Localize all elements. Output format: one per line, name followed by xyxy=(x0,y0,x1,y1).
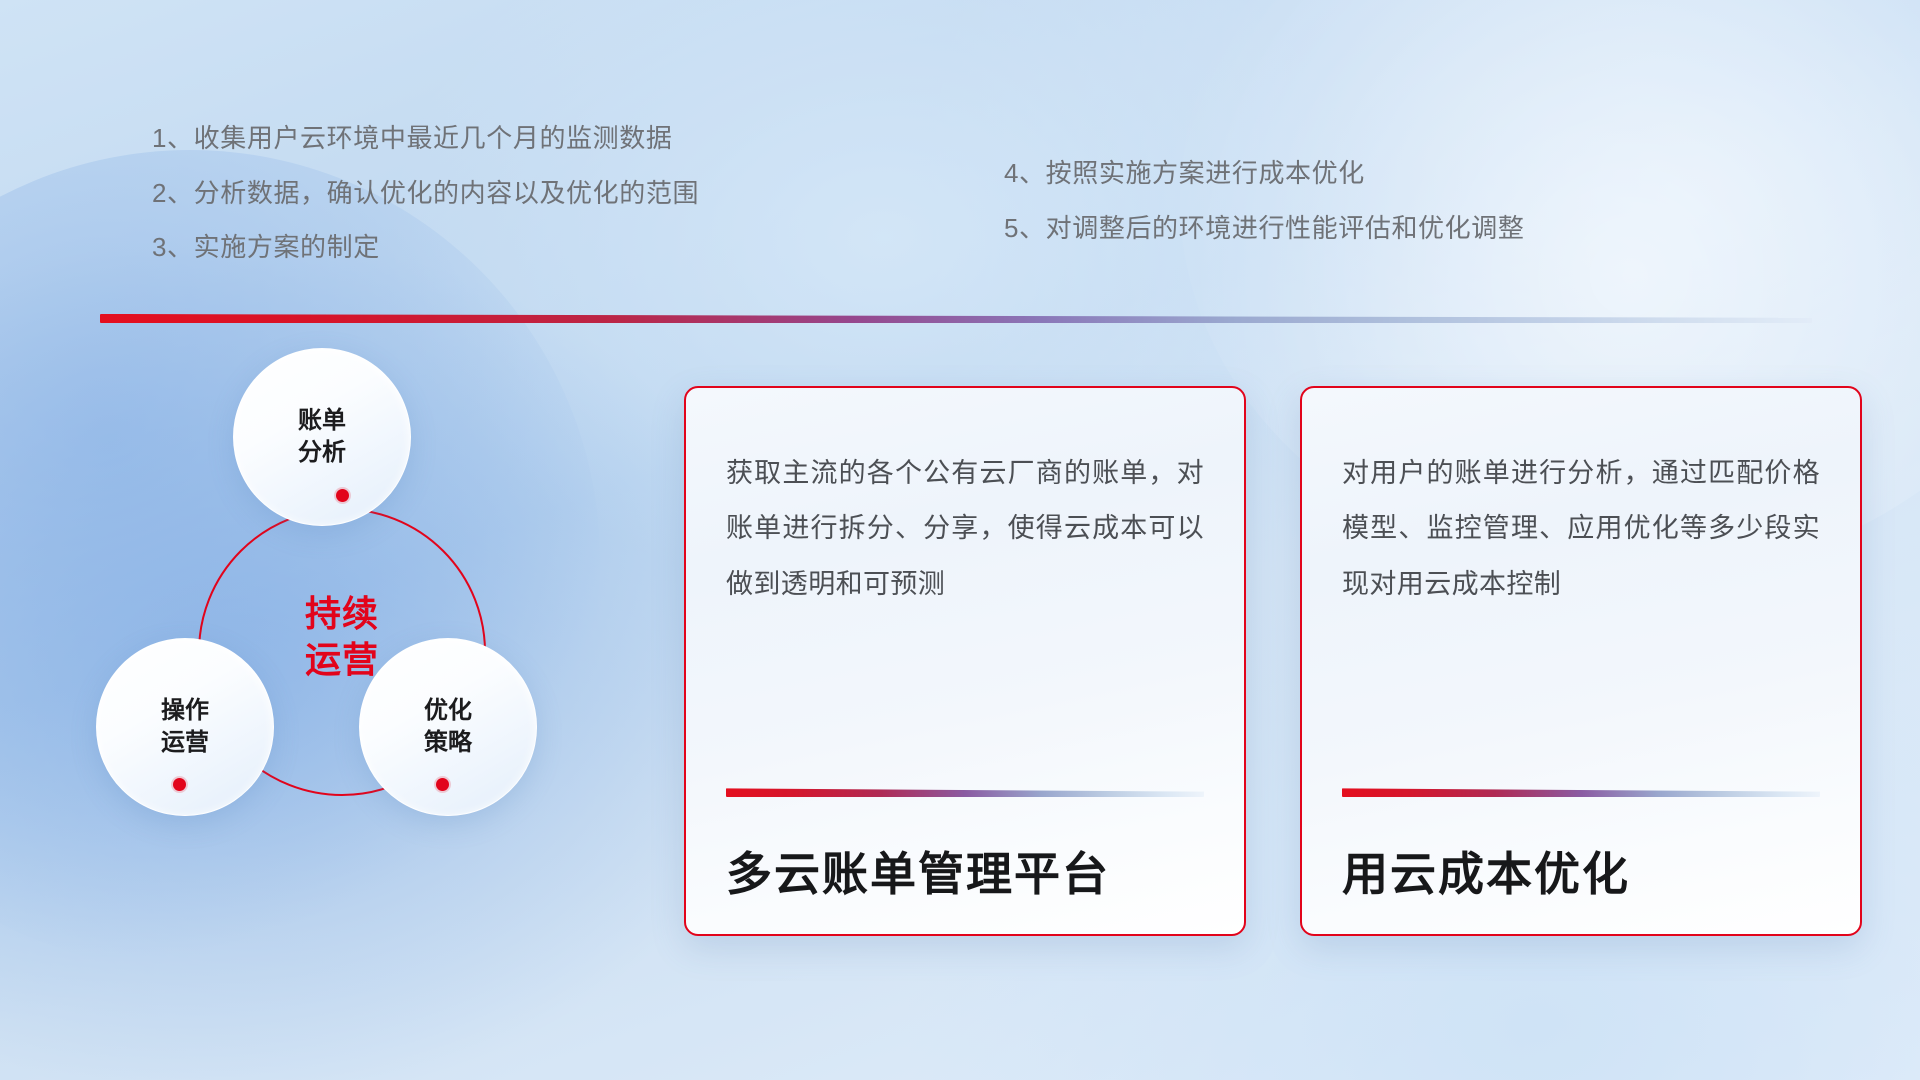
center-label-line2: 运营 xyxy=(198,637,486,683)
connector-dot-right xyxy=(436,778,449,791)
node-label-line1: 优化 xyxy=(424,695,472,727)
bullet-item: 4、按照实施方案进行成本优化 xyxy=(1004,157,1524,190)
bullet-list-right: 4、按照实施方案进行成本优化 5、对调整后的环境进行性能评估和优化调整 xyxy=(1004,157,1524,266)
continuous-operation-diagram: 账单 分析 操作 运营 优化 策略 持续 运营 xyxy=(96,348,636,948)
node-label-line1: 操作 xyxy=(161,695,209,727)
center-label-line1: 持续 xyxy=(198,591,486,637)
connector-dot-top xyxy=(336,489,349,502)
card-body-text: 获取主流的各个公有云厂商的账单，对账单进行拆分、分享，使得云成本可以做到透明和可… xyxy=(726,446,1204,612)
diagram-node-bill-analysis[interactable]: 账单 分析 xyxy=(233,348,411,526)
bullet-item: 2、分析数据，确认优化的内容以及优化的范围 xyxy=(152,177,699,210)
card-accent-rule xyxy=(726,788,1204,797)
bullet-item: 3、实施方案的制定 xyxy=(152,231,699,264)
bullet-item: 1、收集用户云环境中最近几个月的监测数据 xyxy=(152,122,699,155)
divider-bar xyxy=(100,314,1812,323)
node-label-line2: 策略 xyxy=(424,727,472,759)
section-divider xyxy=(100,314,1812,323)
bullet-list-left: 1、收集用户云环境中最近几个月的监测数据 2、分析数据，确认优化的内容以及优化的… xyxy=(152,122,699,286)
node-label-line2: 分析 xyxy=(298,437,346,469)
card-title: 多云账单管理平台 xyxy=(726,849,1204,900)
card-title: 用云成本优化 xyxy=(1342,849,1820,900)
node-label-line1: 账单 xyxy=(298,405,346,437)
connector-dot-left xyxy=(173,778,186,791)
feature-card-multicloud-billing[interactable]: 获取主流的各个公有云厂商的账单，对账单进行拆分、分享，使得云成本可以做到透明和可… xyxy=(684,386,1246,936)
bullet-item: 5、对调整后的环境进行性能评估和优化调整 xyxy=(1004,212,1524,245)
feature-card-cost-optimization[interactable]: 对用户的账单进行分析，通过匹配价格模型、监控管理、应用优化等多少段实现对用云成本… xyxy=(1300,386,1862,936)
node-label-line2: 运营 xyxy=(161,727,209,759)
card-accent-rule xyxy=(1342,788,1820,797)
card-body-text: 对用户的账单进行分析，通过匹配价格模型、监控管理、应用优化等多少段实现对用云成本… xyxy=(1342,446,1820,612)
diagram-center-label: 持续 运营 xyxy=(198,591,486,683)
slide-canvas: 1、收集用户云环境中最近几个月的监测数据 2、分析数据，确认优化的内容以及优化的… xyxy=(0,0,1920,1080)
